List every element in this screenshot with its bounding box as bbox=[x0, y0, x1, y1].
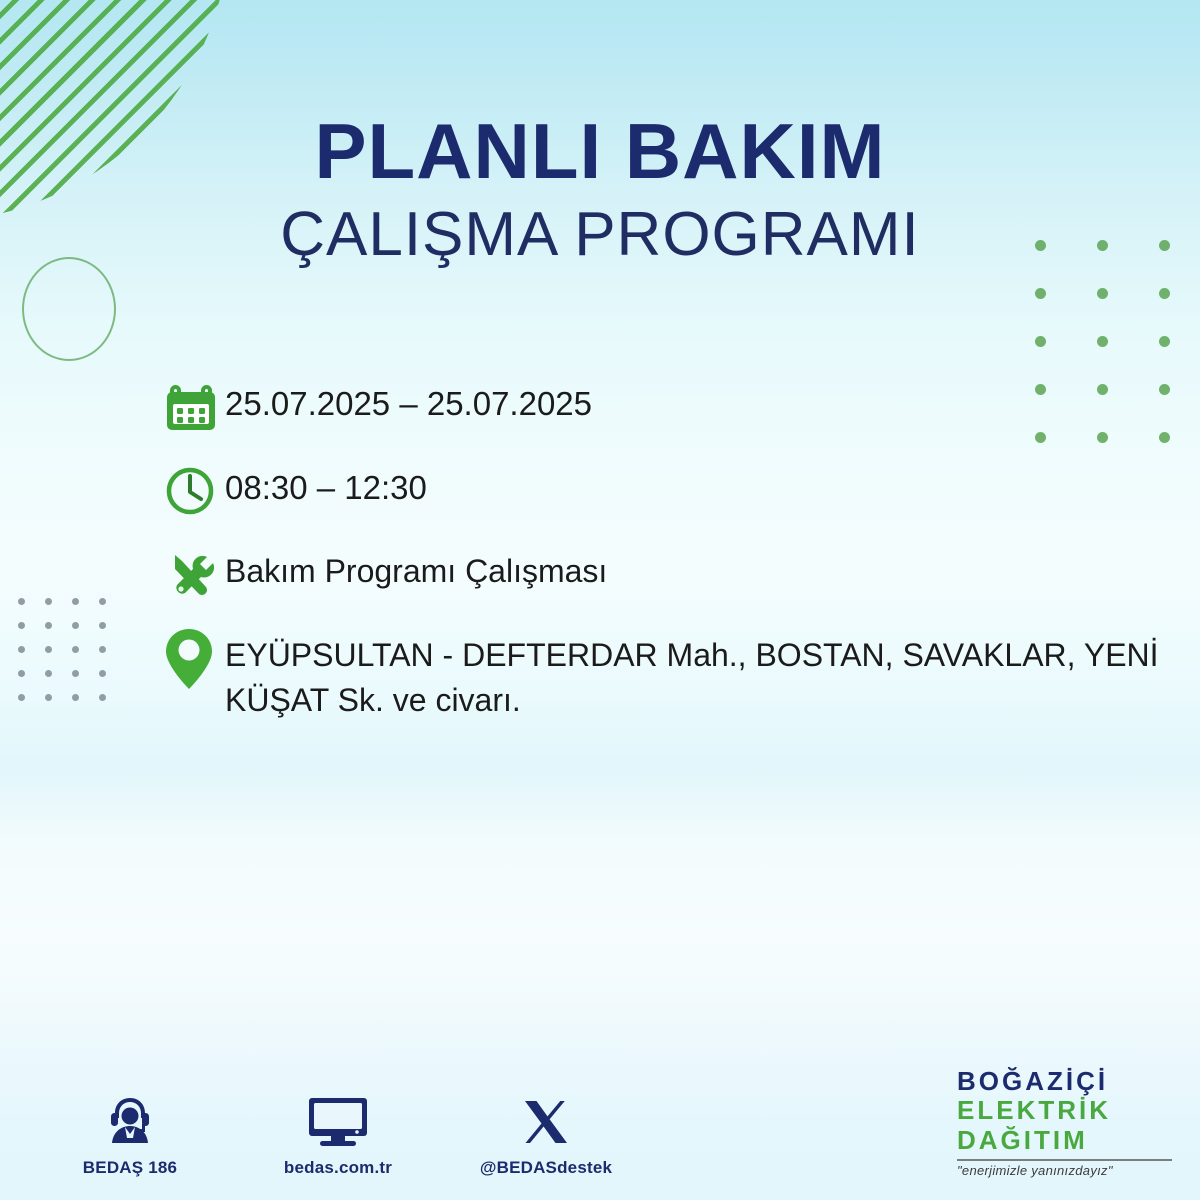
contact-website[interactable]: bedas.com.tr bbox=[263, 1087, 413, 1178]
brand-divider bbox=[957, 1159, 1172, 1161]
contact-phone-label: BEDAŞ 186 bbox=[55, 1158, 205, 1178]
brand-tagline: "enerjimizle yanınızdayız" bbox=[957, 1163, 1172, 1178]
clock-icon bbox=[163, 460, 225, 522]
brand-line-dagitim: DAĞITIM bbox=[957, 1126, 1172, 1155]
map-pin-icon bbox=[163, 628, 225, 690]
page-title: PLANLI BAKIM bbox=[0, 112, 1200, 190]
detail-row-location: EYÜPSULTAN - DEFTERDAR Mah., BOSTAN, SAV… bbox=[163, 628, 1173, 724]
contact-website-label: bedas.com.tr bbox=[263, 1158, 413, 1178]
contact-phone[interactable]: BEDAŞ 186 bbox=[55, 1087, 205, 1178]
maintenance-work-type: Bakım Programı Çalışması bbox=[225, 544, 607, 594]
poster-header: PLANLI BAKIM ÇALIŞMA PROGRAMI bbox=[0, 112, 1200, 271]
brand-logo: BOĞAZİÇİ ELEKTRİK DAĞITIM "enerjimizle y… bbox=[957, 1067, 1172, 1178]
planned-maintenance-poster: PLANLI BAKIM ÇALIŞMA PROGRAMI bbox=[0, 0, 1200, 1200]
detail-row-time: 08:30 – 12:30 bbox=[163, 460, 1173, 522]
contact-social[interactable]: @BEDASdestek bbox=[471, 1087, 621, 1178]
maintenance-details: 25.07.2025 – 25.07.2025 08:30 – 12:30 bbox=[163, 376, 1173, 746]
maintenance-time: 08:30 – 12:30 bbox=[225, 460, 427, 512]
brand-line-bogazici: BOĞAZİÇİ bbox=[957, 1067, 1172, 1096]
detail-row-date: 25.07.2025 – 25.07.2025 bbox=[163, 376, 1173, 438]
tools-icon bbox=[163, 544, 225, 606]
detail-row-work-type: Bakım Programı Çalışması bbox=[163, 544, 1173, 606]
maintenance-date: 25.07.2025 – 25.07.2025 bbox=[225, 376, 592, 428]
footer-contacts: BEDAŞ 186 bedas.com.tr @BEDASdestek bbox=[55, 1087, 621, 1178]
dot-grid-left-decoration bbox=[18, 598, 126, 718]
brand-line-elektrik: ELEKTRİK bbox=[957, 1096, 1172, 1125]
x-twitter-icon bbox=[471, 1087, 621, 1149]
circle-outline-decoration bbox=[22, 257, 116, 361]
contact-social-label: @BEDASdestek bbox=[471, 1158, 621, 1178]
calendar-icon bbox=[163, 376, 225, 438]
call-center-agent-icon bbox=[55, 1087, 205, 1149]
page-subtitle: ÇALIŞMA PROGRAMI bbox=[0, 198, 1200, 271]
maintenance-location: EYÜPSULTAN - DEFTERDAR Mah., BOSTAN, SAV… bbox=[225, 628, 1173, 724]
monitor-icon bbox=[263, 1087, 413, 1149]
